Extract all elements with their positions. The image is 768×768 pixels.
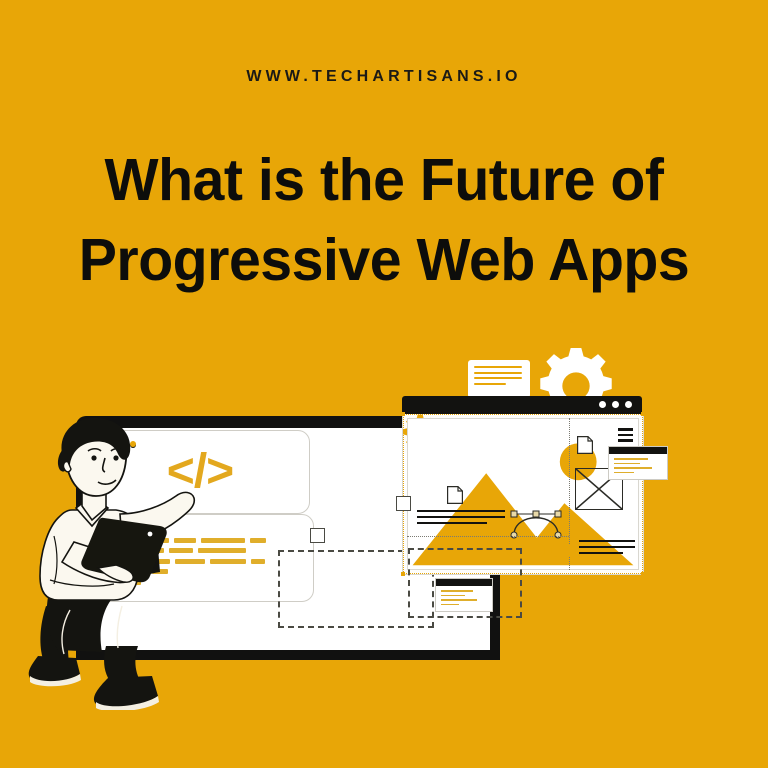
window-dot[interactable] xyxy=(625,401,632,408)
dashboard-window-dots xyxy=(599,401,632,408)
page-icon xyxy=(447,486,463,504)
hero-illustration: </> xyxy=(0,330,768,710)
text-lines-block xyxy=(417,510,505,528)
person-illustration xyxy=(10,410,230,710)
divider-horizontal xyxy=(407,536,569,537)
speech-bubble-lines xyxy=(468,360,530,385)
dashboard-titlebar xyxy=(402,396,642,414)
headline-line-2: Progressive Web Apps xyxy=(12,220,757,300)
code-popup-window[interactable] xyxy=(608,446,668,480)
popup-code-lines xyxy=(609,454,667,480)
text-lines-block xyxy=(579,540,635,558)
window-dot[interactable] xyxy=(612,401,619,408)
image-placeholder-icon[interactable] xyxy=(403,453,481,501)
corner-tag[interactable] xyxy=(396,496,411,511)
corner-tag[interactable] xyxy=(310,528,325,543)
hamburger-menu-icon[interactable] xyxy=(618,428,633,445)
poster-canvas: WWW.TECHARTISANS.IO What is the Future o… xyxy=(0,0,768,768)
site-url: WWW.TECHARTISANS.IO xyxy=(0,68,768,86)
page-title: What is the Future of Progressive Web Ap… xyxy=(0,140,768,300)
page-icon xyxy=(577,436,593,454)
speech-bubble-icon xyxy=(468,360,530,398)
bezier-curve-icon xyxy=(509,506,563,540)
window-dot[interactable] xyxy=(599,401,606,408)
popup-titlebar xyxy=(609,447,667,454)
headline-line-1: What is the Future of xyxy=(12,140,757,220)
selection-rectangle[interactable] xyxy=(408,548,522,618)
